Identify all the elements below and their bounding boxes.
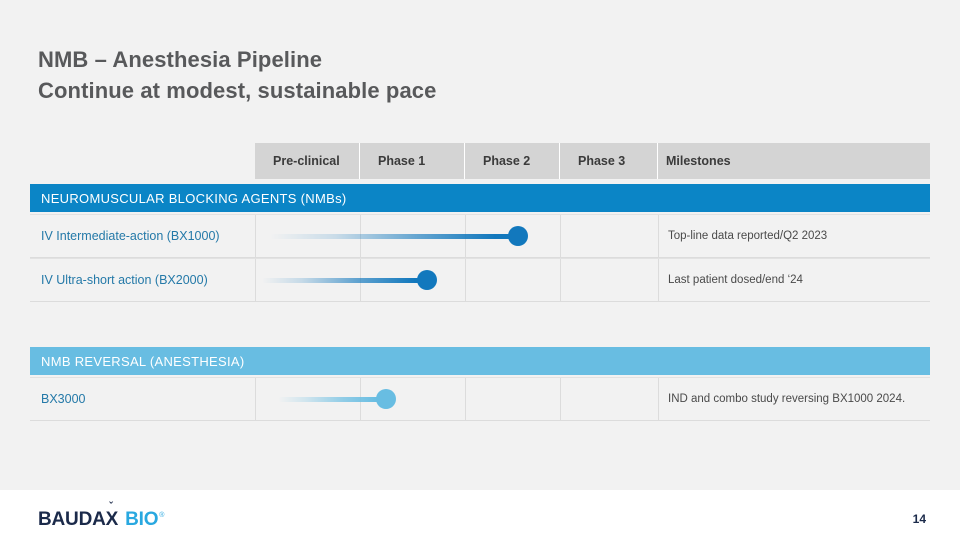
section-band-nmbs-label: NEUROMUSCULAR BLOCKING AGENTS (NMBs) — [41, 191, 347, 206]
product-label-bx2000: IV Ultra-short action (BX2000) — [41, 259, 208, 301]
column-divider — [658, 259, 659, 301]
milestone-text-bx2000: Last patient dosed/end ‘24 — [668, 259, 803, 301]
progress-bar-bx2000 — [262, 259, 440, 301]
progress-bar-track — [262, 278, 428, 283]
page-number: 14 — [913, 512, 926, 526]
progress-bar-bx1000 — [270, 215, 525, 257]
progress-bar-endpoint — [417, 270, 437, 290]
table-row: IV Ultra-short action (BX2000) Last pati… — [30, 258, 930, 302]
progress-bar-track — [270, 234, 520, 239]
column-divider — [255, 215, 256, 257]
column-header-milestones: Milestones — [658, 143, 930, 179]
title-line-2: Continue at modest, sustainable pace — [38, 75, 738, 106]
progress-bar-endpoint — [508, 226, 528, 246]
logo-word-bio: BIO — [125, 509, 158, 531]
progress-bar-track — [278, 397, 386, 402]
baudax-bio-logo: BAUDAX ˇ BIO ® — [38, 509, 164, 531]
logo-word-baudax: BAUDAX ˇ — [38, 509, 118, 531]
column-divider — [560, 378, 561, 420]
product-label-bx1000: IV Intermediate-action (BX1000) — [41, 215, 220, 257]
milestone-text-bx3000: IND and combo study reversing BX1000 202… — [668, 378, 905, 420]
column-divider — [658, 215, 659, 257]
logo-baudax-text: BAUDAX — [38, 509, 118, 530]
slide-canvas: NMB – Anesthesia Pipeline Continue at mo… — [0, 0, 960, 540]
column-divider — [255, 259, 256, 301]
column-divider — [255, 378, 256, 420]
page-title: NMB – Anesthesia Pipeline Continue at mo… — [38, 44, 738, 106]
column-divider — [658, 378, 659, 420]
section-band-nmbs: NEUROMUSCULAR BLOCKING AGENTS (NMBs) — [30, 184, 930, 212]
table-header-row: Pre-clinical Phase 1 Phase 2 Phase 3 Mil… — [255, 143, 930, 179]
column-header-phase-3: Phase 3 — [560, 143, 658, 179]
column-divider — [560, 259, 561, 301]
progress-bar-endpoint — [376, 389, 396, 409]
title-line-1: NMB – Anesthesia Pipeline — [38, 44, 738, 75]
table-row: BX3000 IND and combo study reversing BX1… — [30, 377, 930, 421]
milestone-text-bx1000: Top-line data reported/Q2 2023 — [668, 215, 827, 257]
section-band-nmb-reversal: NMB REVERSAL (ANESTHESIA) — [30, 347, 930, 375]
column-divider — [560, 215, 561, 257]
column-header-phase-2: Phase 2 — [465, 143, 560, 179]
column-header-phase-1: Phase 1 — [360, 143, 465, 179]
column-divider — [465, 259, 466, 301]
logo-check-mark: ˇ — [109, 504, 116, 510]
progress-bar-bx3000 — [278, 378, 398, 420]
table-row: IV Intermediate-action (BX1000) Top-line… — [30, 214, 930, 258]
column-header-pre-clinical: Pre-clinical — [255, 143, 360, 179]
product-label-bx3000: BX3000 — [41, 378, 85, 420]
column-divider — [465, 378, 466, 420]
registered-trademark-icon: ® — [159, 512, 164, 519]
section-band-nmb-reversal-label: NMB REVERSAL (ANESTHESIA) — [41, 354, 245, 369]
